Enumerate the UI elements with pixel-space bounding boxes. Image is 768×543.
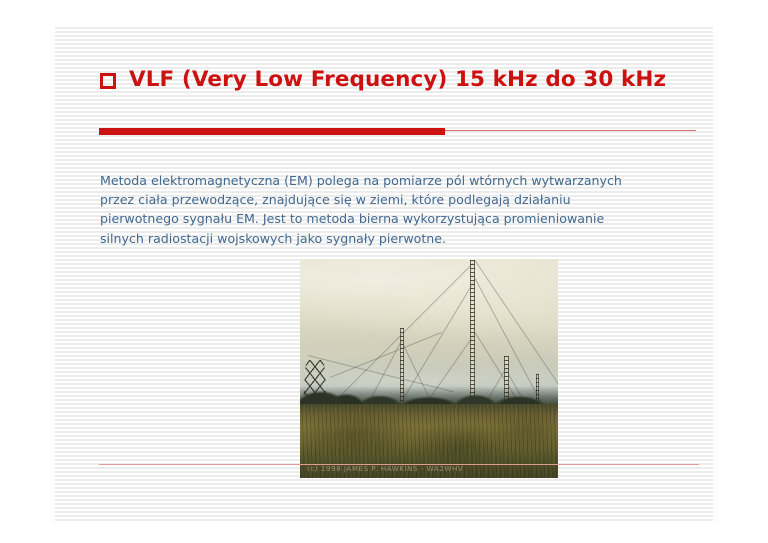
title-divider <box>99 128 696 135</box>
body-paragraph: Metoda elektromagnetyczna (EM) polega na… <box>100 171 630 249</box>
bottom-divider <box>99 464 699 465</box>
slide-title: VLF (Very Low Frequency) 15 kHz do 30 kH… <box>100 67 700 92</box>
square-bullet-icon <box>100 73 116 89</box>
antenna-photo: (c) 1998 JAMES P. HAWKINS - WA2WHV <box>300 259 558 478</box>
page-title: VLF (Very Low Frequency) 15 kHz do 30 kH… <box>129 67 666 92</box>
slide-surface: VLF (Very Low Frequency) 15 kHz do 30 kH… <box>55 25 713 521</box>
slide-root: VLF (Very Low Frequency) 15 kHz do 30 kH… <box>0 0 768 543</box>
photo-copyright-watermark: (c) 1998 JAMES P. HAWKINS - WA2WHV <box>307 464 463 473</box>
title-divider-rule <box>445 130 696 131</box>
title-divider-accent-bar <box>99 128 445 135</box>
